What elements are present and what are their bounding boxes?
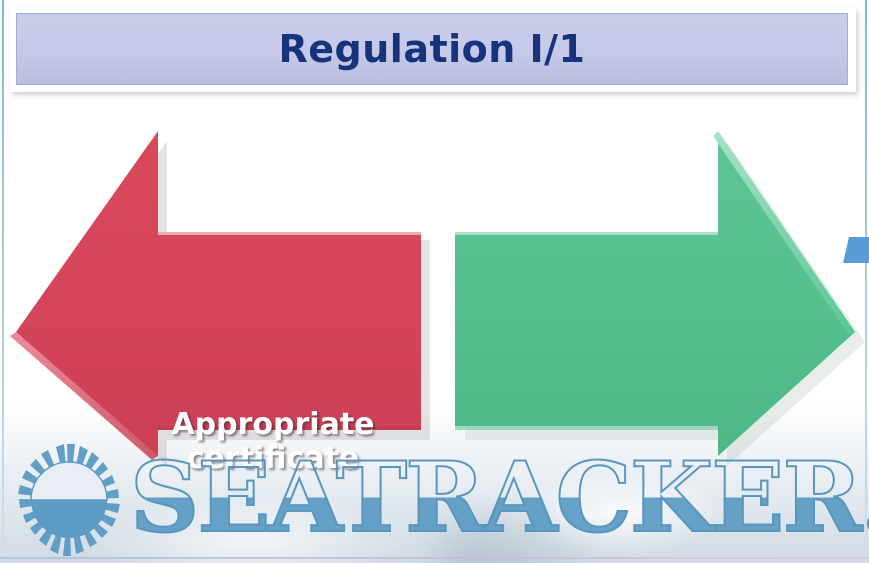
title-banner: Regulation I/1	[10, 8, 856, 92]
arrow-label-appropriate-certificate: Appropriate certificate	[128, 408, 418, 475]
arrow-body-green	[455, 131, 855, 456]
blue-tab-shape	[835, 233, 869, 267]
slide-canvas: Regulation I/1	[0, 0, 869, 563]
blue-parallelogram-icon	[843, 237, 869, 263]
arrow-highlight-red	[158, 232, 421, 235]
arrow-appropriate-certificate[interactable]: Appropriate certificate	[0, 120, 440, 470]
slide-bottom-edge-line	[0, 557, 869, 559]
arrow-lowlight-green	[455, 426, 718, 430]
title-banner-fill: Regulation I/1	[16, 13, 848, 85]
arrow-certificate-of-competency[interactable]: Certificate of Competency (CoC)	[450, 120, 869, 470]
arrow-highlight-green	[455, 232, 718, 235]
page-title: Regulation I/1	[279, 27, 586, 71]
